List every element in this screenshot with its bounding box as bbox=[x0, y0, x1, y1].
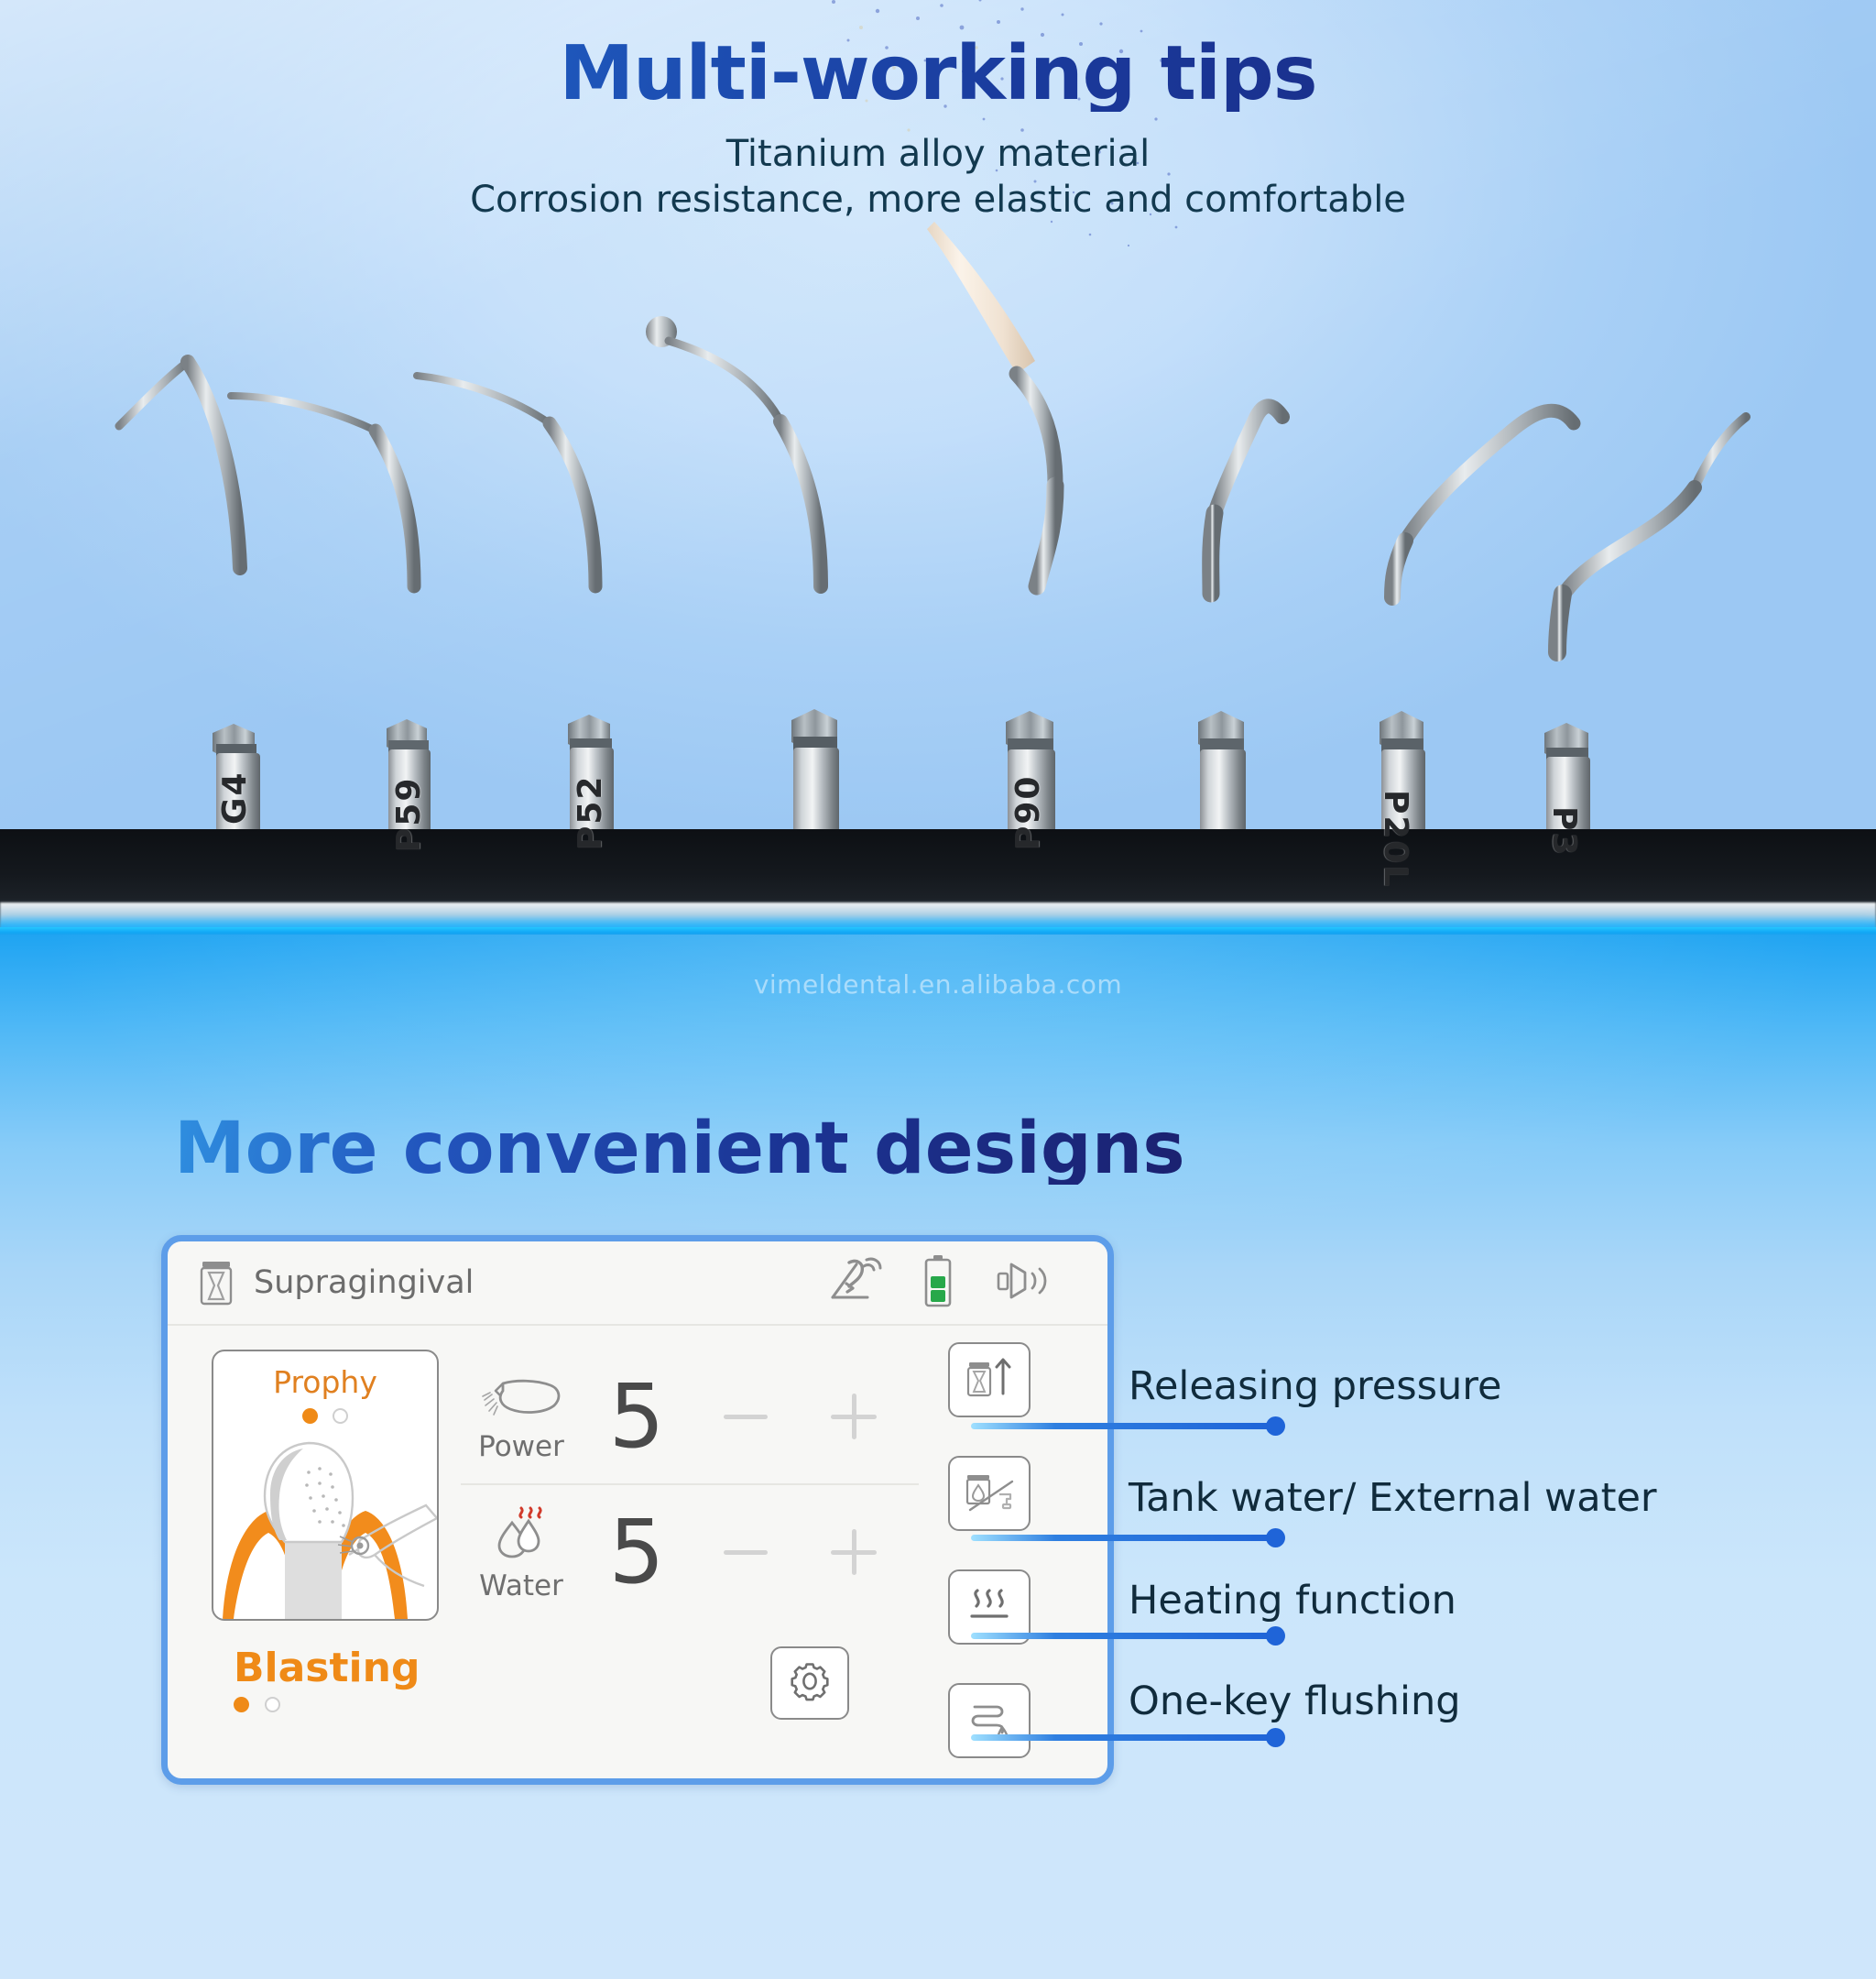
blasting-label: Blasting bbox=[234, 1645, 420, 1691]
hourglass-icon bbox=[199, 1260, 234, 1306]
heating-icon bbox=[963, 1583, 1016, 1632]
leader-line-2 bbox=[971, 1535, 1273, 1541]
leader-line-1 bbox=[971, 1423, 1273, 1429]
mode-label: Supragingival bbox=[254, 1264, 474, 1301]
handpiece-spray-icon bbox=[479, 1371, 563, 1427]
pager-dot-inactive[interactable] bbox=[265, 1697, 280, 1712]
section2-title: More convenient designs bbox=[174, 1113, 1185, 1185]
speaker-icon bbox=[994, 1258, 1053, 1308]
water-row: Water 5 bbox=[461, 1485, 919, 1619]
status-icons bbox=[825, 1254, 1107, 1312]
water-value: 5 bbox=[582, 1508, 692, 1596]
pager-dot-active[interactable] bbox=[234, 1697, 249, 1712]
device-control-panel: Supragingival bbox=[161, 1235, 1114, 1785]
leader-line-4 bbox=[971, 1734, 1273, 1741]
tip-label-2: P59 bbox=[390, 777, 428, 852]
battery-icon bbox=[922, 1254, 954, 1312]
power-label: Power bbox=[478, 1430, 564, 1463]
pressure-release-icon bbox=[964, 1353, 1015, 1407]
tip-label-8: P3 bbox=[1545, 806, 1583, 857]
water-decrement-button[interactable] bbox=[692, 1550, 800, 1555]
tip-label-7: P20L bbox=[1377, 790, 1414, 888]
water-label: Water bbox=[479, 1569, 563, 1602]
power-row: Power 5 bbox=[461, 1350, 919, 1485]
pager-dot-active[interactable] bbox=[302, 1408, 318, 1424]
panel-header: Supragingival bbox=[168, 1241, 1107, 1326]
minus-icon bbox=[724, 1415, 768, 1419]
leader-line-3 bbox=[971, 1633, 1273, 1639]
feature-buttons-column bbox=[948, 1342, 1031, 1797]
tank-external-water-icon bbox=[963, 1469, 1016, 1519]
gear-icon bbox=[789, 1660, 831, 1707]
prophy-mode-card[interactable]: Prophy bbox=[212, 1350, 439, 1621]
power-increment-button[interactable] bbox=[800, 1394, 908, 1439]
water-increment-button[interactable] bbox=[800, 1529, 908, 1575]
tip-label-5: P90 bbox=[1009, 775, 1047, 850]
callout-label-1: Releasing pressure bbox=[1129, 1363, 1501, 1409]
leader-dot-1 bbox=[1266, 1416, 1285, 1436]
tank-external-water-button[interactable] bbox=[948, 1456, 1031, 1531]
watermark-text: vimeldental.en.alibaba.com bbox=[0, 969, 1876, 1000]
wireless-foot-pedal-icon bbox=[825, 1255, 882, 1311]
tooth-prophy-spray-icon bbox=[213, 1430, 437, 1619]
prophy-pager[interactable] bbox=[213, 1408, 437, 1424]
power-value: 5 bbox=[582, 1372, 692, 1460]
plus-icon bbox=[831, 1394, 877, 1439]
plus-icon bbox=[831, 1529, 877, 1575]
one-key-flushing-button[interactable] bbox=[948, 1683, 1031, 1758]
product-infographic: Multi-working tips Titanium alloy materi… bbox=[0, 0, 1876, 1979]
scaler-tips-row bbox=[0, 0, 1876, 935]
leader-dot-2 bbox=[1266, 1528, 1285, 1547]
callout-label-4: One-key flushing bbox=[1129, 1678, 1461, 1724]
releasing-pressure-button[interactable] bbox=[948, 1342, 1031, 1417]
tip-label-3: P52 bbox=[572, 775, 609, 850]
prophy-label: Prophy bbox=[213, 1364, 437, 1400]
minus-icon bbox=[724, 1550, 768, 1555]
callout-label-2: Tank water/ External water bbox=[1129, 1475, 1657, 1521]
power-decrement-button[interactable] bbox=[692, 1415, 800, 1419]
parameter-rows: Power 5 bbox=[461, 1350, 919, 1619]
water-drop-heat-icon bbox=[479, 1503, 563, 1566]
callout-label-3: Heating function bbox=[1129, 1578, 1456, 1624]
settings-button[interactable] bbox=[770, 1646, 849, 1720]
leader-dot-3 bbox=[1266, 1626, 1285, 1646]
blasting-pager[interactable] bbox=[234, 1697, 280, 1712]
leader-dot-4 bbox=[1266, 1728, 1285, 1747]
pager-dot-inactive[interactable] bbox=[333, 1408, 348, 1424]
tip-label-1: G4 bbox=[216, 771, 254, 825]
